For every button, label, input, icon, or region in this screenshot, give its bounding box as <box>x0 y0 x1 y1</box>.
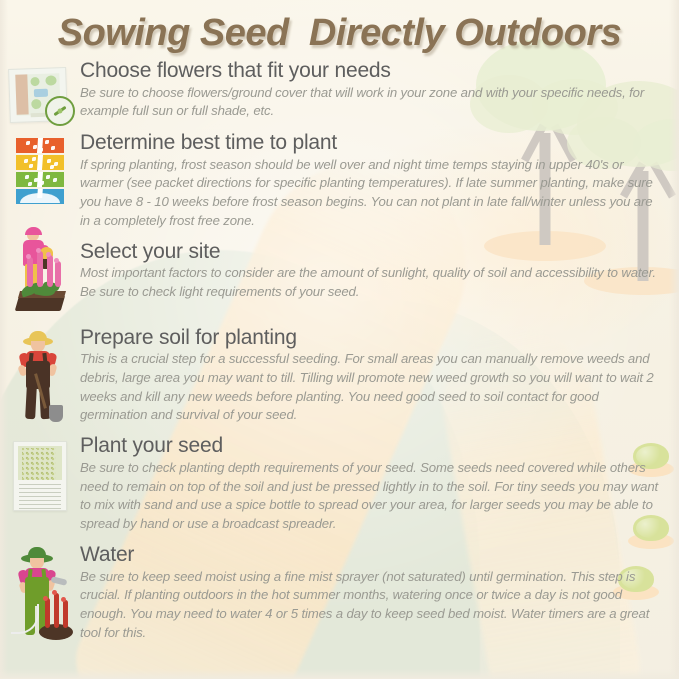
step-title: Prepare soil for planting <box>80 327 665 350</box>
step-text: Choose flowers that fit your needs Be su… <box>80 60 679 121</box>
garden-plan-compass-icon <box>9 68 71 122</box>
step-text: Determine best time to plant If spring p… <box>80 132 679 231</box>
compass-icon <box>45 96 75 126</box>
red-flower-spike <box>54 593 59 628</box>
gardener-leg <box>25 384 37 418</box>
four-seasons-icon <box>16 138 64 206</box>
step-choose-flowers: Choose flowers that fit your needs Be su… <box>0 60 679 122</box>
step-icon-container <box>0 327 80 425</box>
step-icon-container <box>0 132 80 206</box>
season-leaves <box>16 172 64 187</box>
gardener-with-shovel-icon <box>9 329 71 425</box>
step-prepare-soil: Prepare soil for planting This is a cruc… <box>0 327 679 426</box>
season-band-summer <box>16 155 64 170</box>
steps-list: Choose flowers that fit your needs Be su… <box>0 60 679 642</box>
flower-bud <box>61 597 66 602</box>
flower-bud <box>54 258 59 263</box>
step-body: Be sure to check planting depth requirem… <box>80 459 665 534</box>
step-text: Select your site Most important factors … <box>80 241 679 302</box>
step-icon-container <box>0 544 80 642</box>
plan-brick-area <box>15 74 28 114</box>
seed-packet-icon <box>13 441 67 511</box>
step-water: Water Be sure to keep seed moist using a… <box>0 544 679 643</box>
step-icon-container <box>0 241 80 315</box>
season-leaves <box>16 155 64 170</box>
step-title: Choose flowers that fit your needs <box>80 60 665 83</box>
season-band-winter <box>16 189 64 204</box>
step-title: Determine best time to plant <box>80 132 665 155</box>
flower-bud <box>43 596 48 601</box>
compass-center <box>58 109 63 114</box>
step-body: This is a crucial step for a successful … <box>80 350 665 425</box>
step-body: Most important factors to consider are t… <box>80 264 665 301</box>
step-title: Water <box>80 544 665 567</box>
flower-spike <box>37 251 43 287</box>
step-text: Plant your seed Be sure to check plantin… <box>80 435 679 534</box>
gardener-face <box>31 341 45 352</box>
step-plant-seed: Plant your seed Be sure to check plantin… <box>0 435 679 534</box>
gardener-hat <box>25 227 42 235</box>
season-band-spring <box>16 172 64 187</box>
straw-hat-crown <box>29 331 47 342</box>
plan-water-feature <box>34 89 48 97</box>
step-body: Be sure to keep seed moist using a fine … <box>80 568 665 643</box>
flower-spike <box>47 255 53 287</box>
red-flower-spike <box>45 598 50 628</box>
step-select-site: Select your site Most important factors … <box>0 241 679 315</box>
flower-bud <box>46 252 51 257</box>
gardener-watering-icon <box>9 546 71 642</box>
flower-bud <box>36 248 41 253</box>
flower-bud <box>52 590 57 595</box>
step-text: Prepare soil for planting This is a cruc… <box>80 327 679 426</box>
flower-spike <box>27 257 33 287</box>
flower-bud <box>26 254 31 259</box>
packet-text-lines <box>19 484 61 512</box>
season-leaves <box>16 138 64 153</box>
step-text: Water Be sure to keep seed moist using a… <box>80 544 679 643</box>
step-title: Select your site <box>80 241 665 264</box>
red-flower-spike <box>63 600 68 628</box>
flower-spike <box>55 261 61 287</box>
flower-planter-gardener-icon <box>9 229 71 315</box>
garden-hat-crown <box>28 547 46 558</box>
step-icon-container <box>0 435 80 511</box>
step-body: Be sure to choose flowers/ground cover t… <box>80 84 665 121</box>
season-band-autumn <box>16 138 64 153</box>
shovel-blade <box>49 405 63 422</box>
step-determine-time: Determine best time to plant If spring p… <box>0 132 679 231</box>
page-title: Sowing Seed Directly Outdoors <box>0 12 679 55</box>
season-tree <box>37 189 43 198</box>
step-icon-container <box>0 60 80 122</box>
infographic-poster: Sowing Seed Directly Outdoors <box>0 0 679 679</box>
bottom-border-edge <box>0 669 679 679</box>
spilled-seeds <box>22 448 56 480</box>
step-title: Plant your seed <box>80 435 665 458</box>
step-body: If spring planting, frost season should … <box>80 156 665 231</box>
